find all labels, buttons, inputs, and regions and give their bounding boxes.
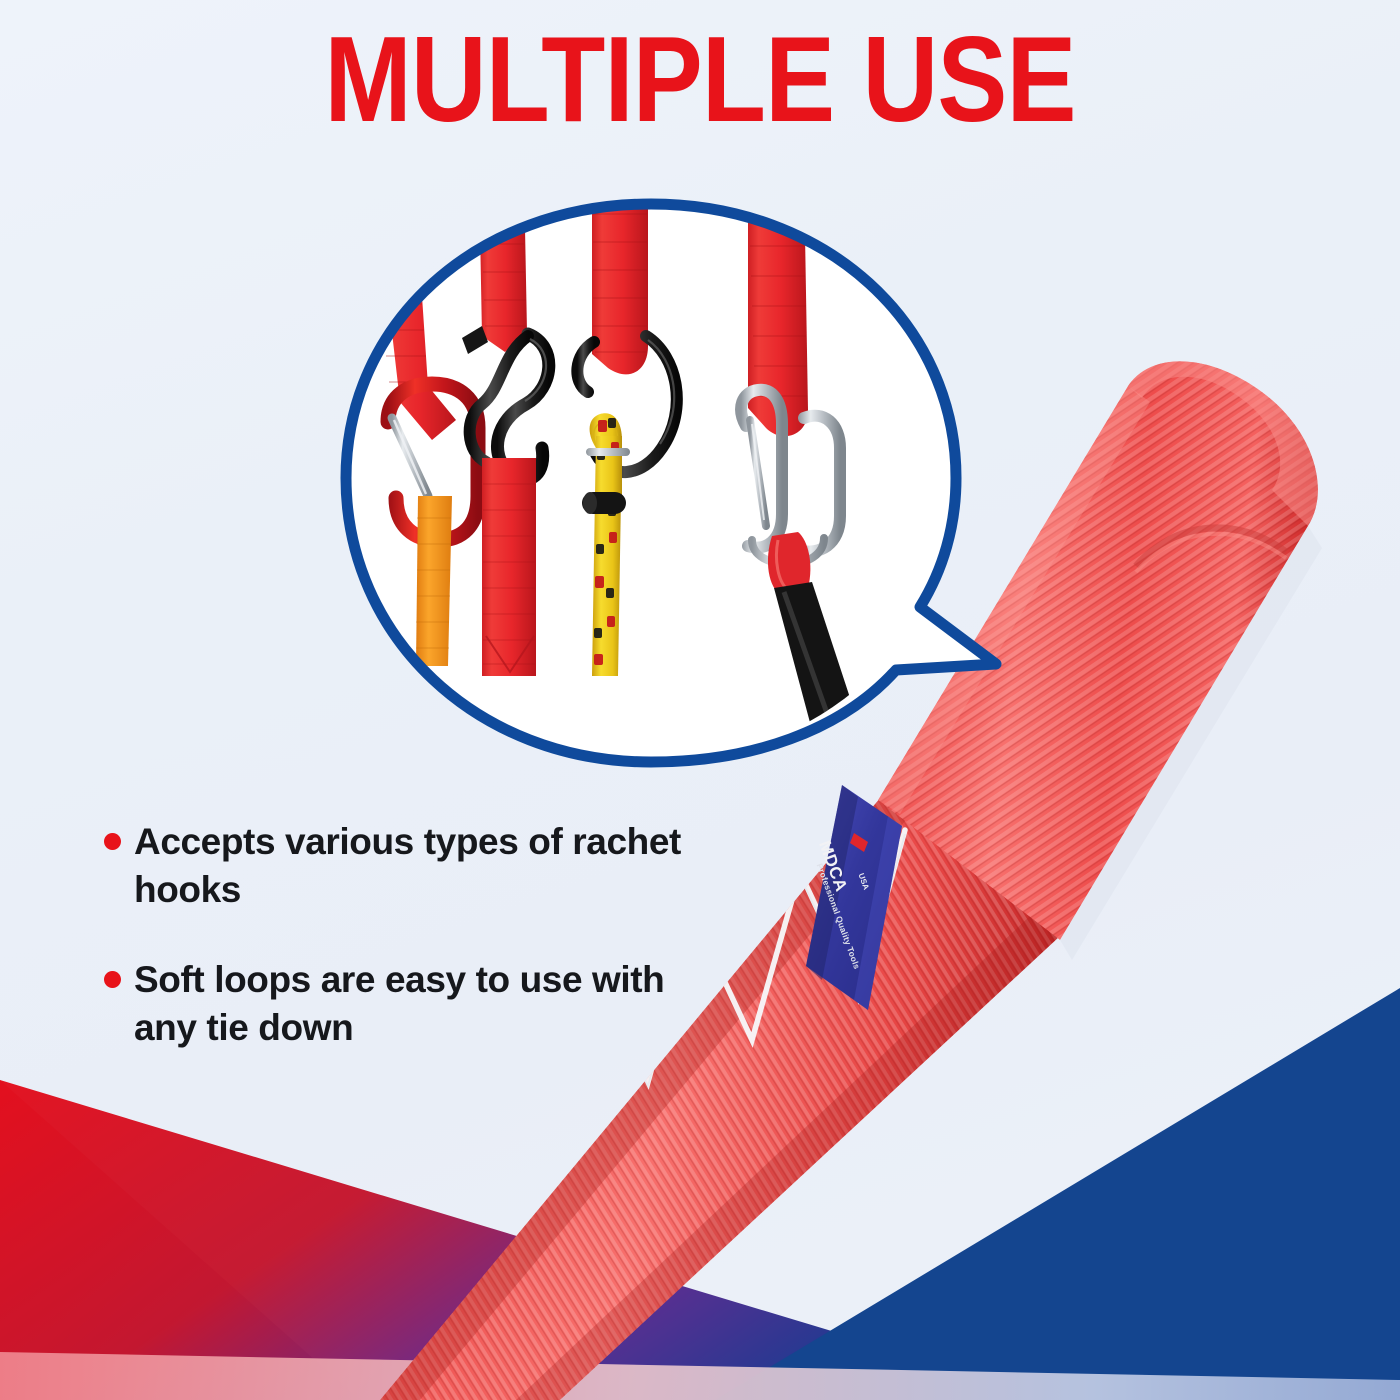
feature-hooks-label: Accepts various types of rachet hooks [134, 818, 704, 914]
bullet-dot-icon [104, 833, 121, 850]
bullet-dot-icon [104, 971, 121, 988]
infographic-page: MULTIPLE USE [0, 0, 1400, 1400]
feature-list: Accepts various types of rachet hooks So… [104, 818, 704, 1094]
feature-hooks: Accepts various types of rachet hooks [104, 818, 704, 914]
feature-softloops-label: Soft loops are easy to use with any tie … [134, 956, 704, 1052]
feature-softloops: Soft loops are easy to use with any tie … [104, 956, 704, 1052]
page-title: MULTIPLE USE [98, 18, 1302, 140]
hook-compatibility-callout [296, 196, 1008, 776]
